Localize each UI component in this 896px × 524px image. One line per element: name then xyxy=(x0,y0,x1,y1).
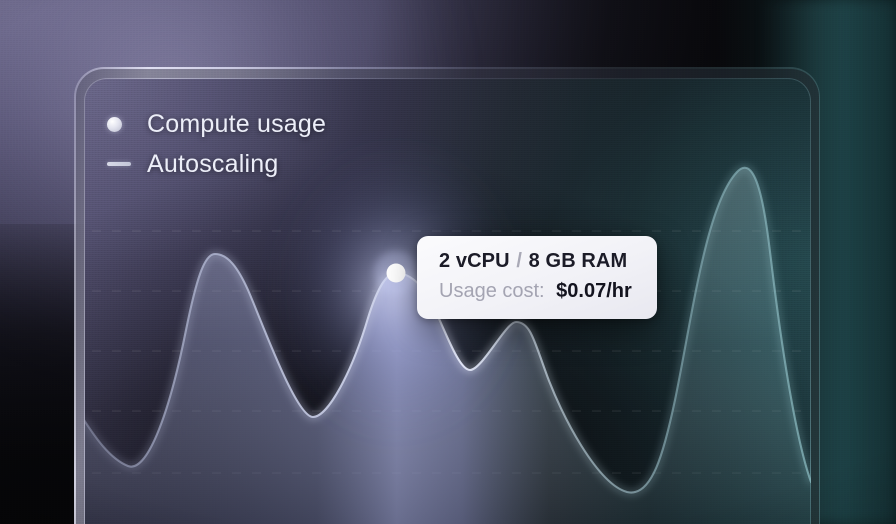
legend-label-autoscaling: Autoscaling xyxy=(147,150,278,179)
tooltip-cost-label: Usage cost: xyxy=(439,280,545,302)
tooltip-separator: / xyxy=(515,250,523,272)
tooltip-spec-line: 2 vCPU / 8 GB RAM xyxy=(439,250,635,273)
dash-marker-icon xyxy=(107,162,137,166)
tooltip-ram: 8 GB RAM xyxy=(529,250,628,272)
tooltip-vcpu: 2 vCPU xyxy=(439,250,510,272)
chart-legend: Compute usage Autoscaling xyxy=(107,104,326,184)
tooltip-cost-value: $0.07/hr xyxy=(556,280,632,302)
tooltip-cost-line: Usage cost: $0.07/hr xyxy=(439,280,635,303)
legend-item-autoscaling[interactable]: Autoscaling xyxy=(107,144,326,184)
chart-stage: Compute usage Autoscaling 2 vCPU / 8 GB … xyxy=(0,0,896,524)
dot-marker-icon xyxy=(107,117,137,132)
legend-label-compute-usage: Compute usage xyxy=(147,110,326,139)
chart-tooltip: 2 vCPU / 8 GB RAM Usage cost: $0.07/hr xyxy=(417,236,657,319)
legend-item-compute-usage[interactable]: Compute usage xyxy=(107,104,326,144)
